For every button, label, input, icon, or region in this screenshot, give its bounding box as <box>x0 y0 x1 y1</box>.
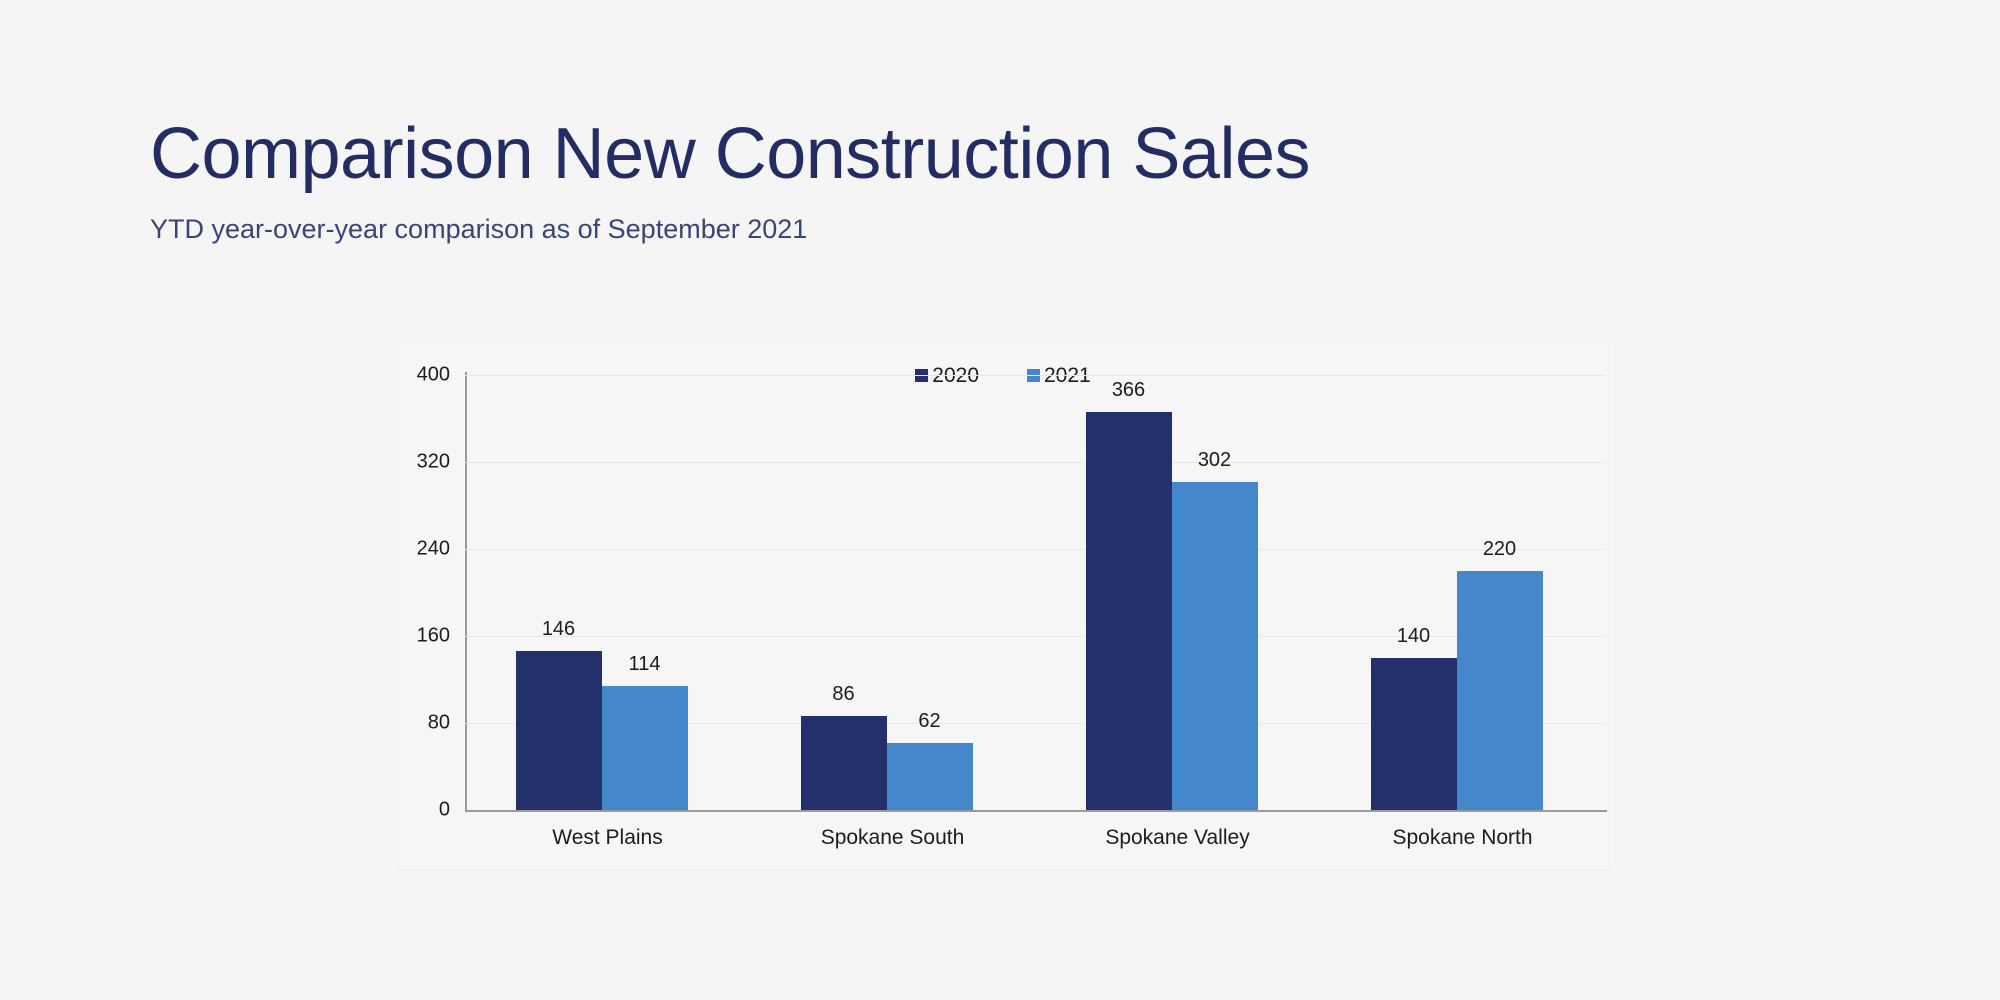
x-axis-label-spokane-south: Spokane South <box>821 826 965 850</box>
bar-spokane-north-2021[interactable] <box>1457 571 1543 810</box>
x-axis-label-spokane-north: Spokane North <box>1392 826 1532 850</box>
bar-value-label: 366 <box>1112 379 1145 402</box>
bar-value-label: 62 <box>918 710 940 733</box>
bar-value-label: 220 <box>1483 538 1516 561</box>
y-axis-tick-label: 320 <box>417 451 450 474</box>
bar-spokane-south-2020[interactable] <box>801 716 887 810</box>
chart-header: Comparison New Construction Sales YTD ye… <box>150 118 1850 243</box>
bar-west-plains-2021[interactable] <box>602 686 688 810</box>
bar-group: 146114 <box>516 375 688 810</box>
bar-value-label: 146 <box>542 618 575 641</box>
bar-value-label: 86 <box>832 683 854 706</box>
bar-group: 366302 <box>1086 375 1258 810</box>
y-axis-tick-labels: 080160240320400 <box>380 375 450 810</box>
bar-value-label: 302 <box>1198 449 1231 472</box>
y-axis-tick-label: 80 <box>428 712 450 735</box>
y-axis-tick-label: 0 <box>439 799 450 822</box>
bar-group: 8662 <box>801 375 973 810</box>
bar-value-label: 140 <box>1397 625 1430 648</box>
y-axis-tick-label: 160 <box>417 625 450 648</box>
bar-spokane-valley-2020[interactable] <box>1086 412 1172 810</box>
bar-spokane-valley-2021[interactable] <box>1172 482 1258 810</box>
plot-area: 1461148662366302140220 <box>465 375 1605 810</box>
bar-spokane-north-2020[interactable] <box>1371 658 1457 810</box>
bar-spokane-south-2021[interactable] <box>887 743 973 810</box>
bar-group: 140220 <box>1371 375 1543 810</box>
bar-value-label: 114 <box>629 653 661 676</box>
page-subtitle: YTD year-over-year comparison as of Sept… <box>150 216 1850 243</box>
y-axis-tick-label: 240 <box>417 538 450 561</box>
x-axis-label-west-plains: West Plains <box>552 826 663 850</box>
bar-west-plains-2020[interactable] <box>516 651 602 810</box>
page-title: Comparison New Construction Sales <box>150 118 1850 190</box>
y-axis-tick-label: 400 <box>417 364 450 387</box>
x-axis-category-labels: West PlainsSpokane SouthSpokane ValleySp… <box>465 826 1605 866</box>
x-axis-label-spokane-valley: Spokane Valley <box>1105 826 1249 850</box>
